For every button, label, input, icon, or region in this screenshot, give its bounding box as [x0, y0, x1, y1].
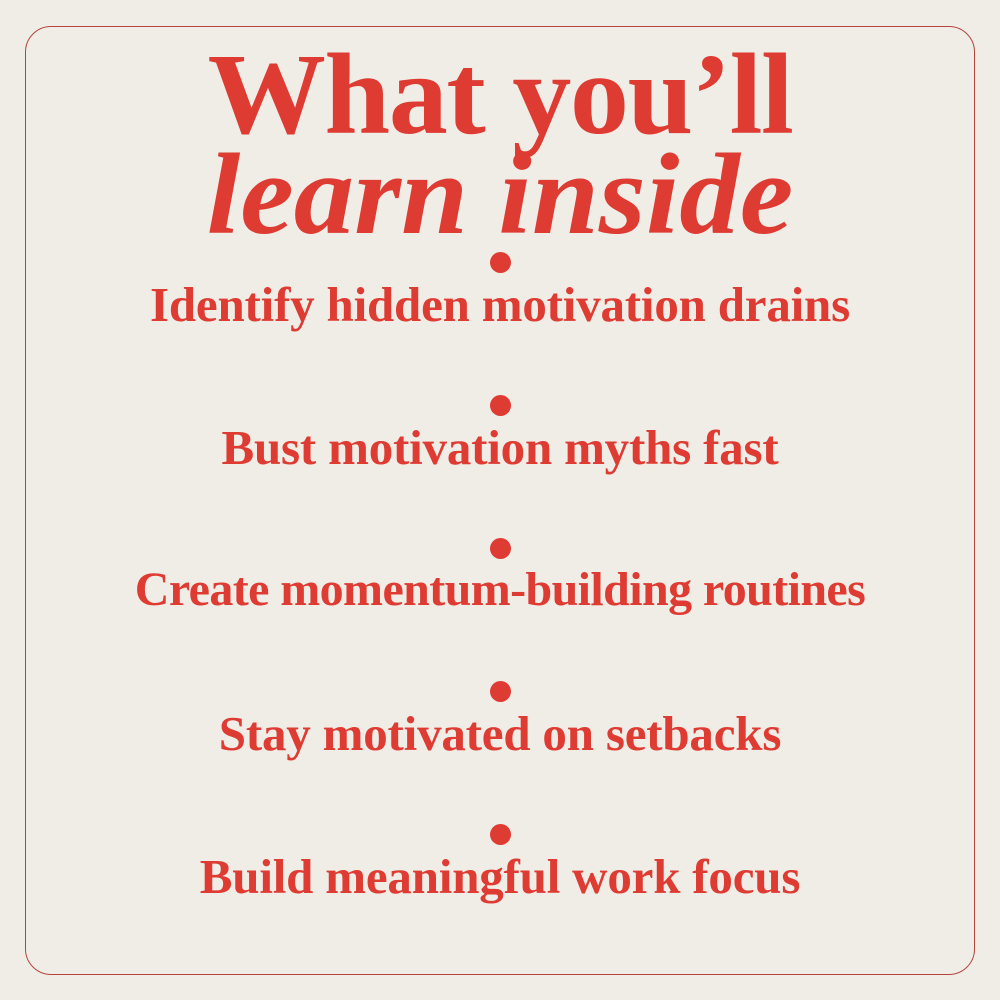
list-item-label: Bust motivation myths fast — [0, 422, 1000, 473]
page-title: What you’ll learn inside — [0, 42, 1000, 250]
list-item-label: Create momentum-building routines — [0, 565, 1000, 615]
page-title-line-2: learn inside — [0, 142, 1000, 250]
dot-bullet-icon — [490, 681, 511, 702]
list-item: Bust motivation myths fast — [0, 395, 1000, 538]
list-item: Stay motivated on setbacks — [0, 681, 1000, 824]
dot-bullet-icon — [490, 395, 511, 416]
promo-card: What you’ll learn inside Identify hidden… — [0, 0, 1000, 1000]
dot-bullet-icon — [490, 538, 511, 559]
dot-bullet-icon — [490, 252, 511, 273]
benefit-list: Identify hidden motivation drains Bust m… — [0, 252, 1000, 967]
list-item-label: Identify hidden motivation drains — [0, 279, 1000, 330]
list-item-label: Stay motivated on setbacks — [0, 708, 1000, 759]
dot-bullet-icon — [490, 824, 511, 845]
list-item: Identify hidden motivation drains — [0, 252, 1000, 395]
list-item: Build meaningful work focus — [0, 824, 1000, 967]
list-item: Create momentum-building routines — [0, 538, 1000, 681]
list-item-label: Build meaningful work focus — [0, 851, 1000, 902]
card-content: What you’ll learn inside Identify hidden… — [0, 0, 1000, 1000]
